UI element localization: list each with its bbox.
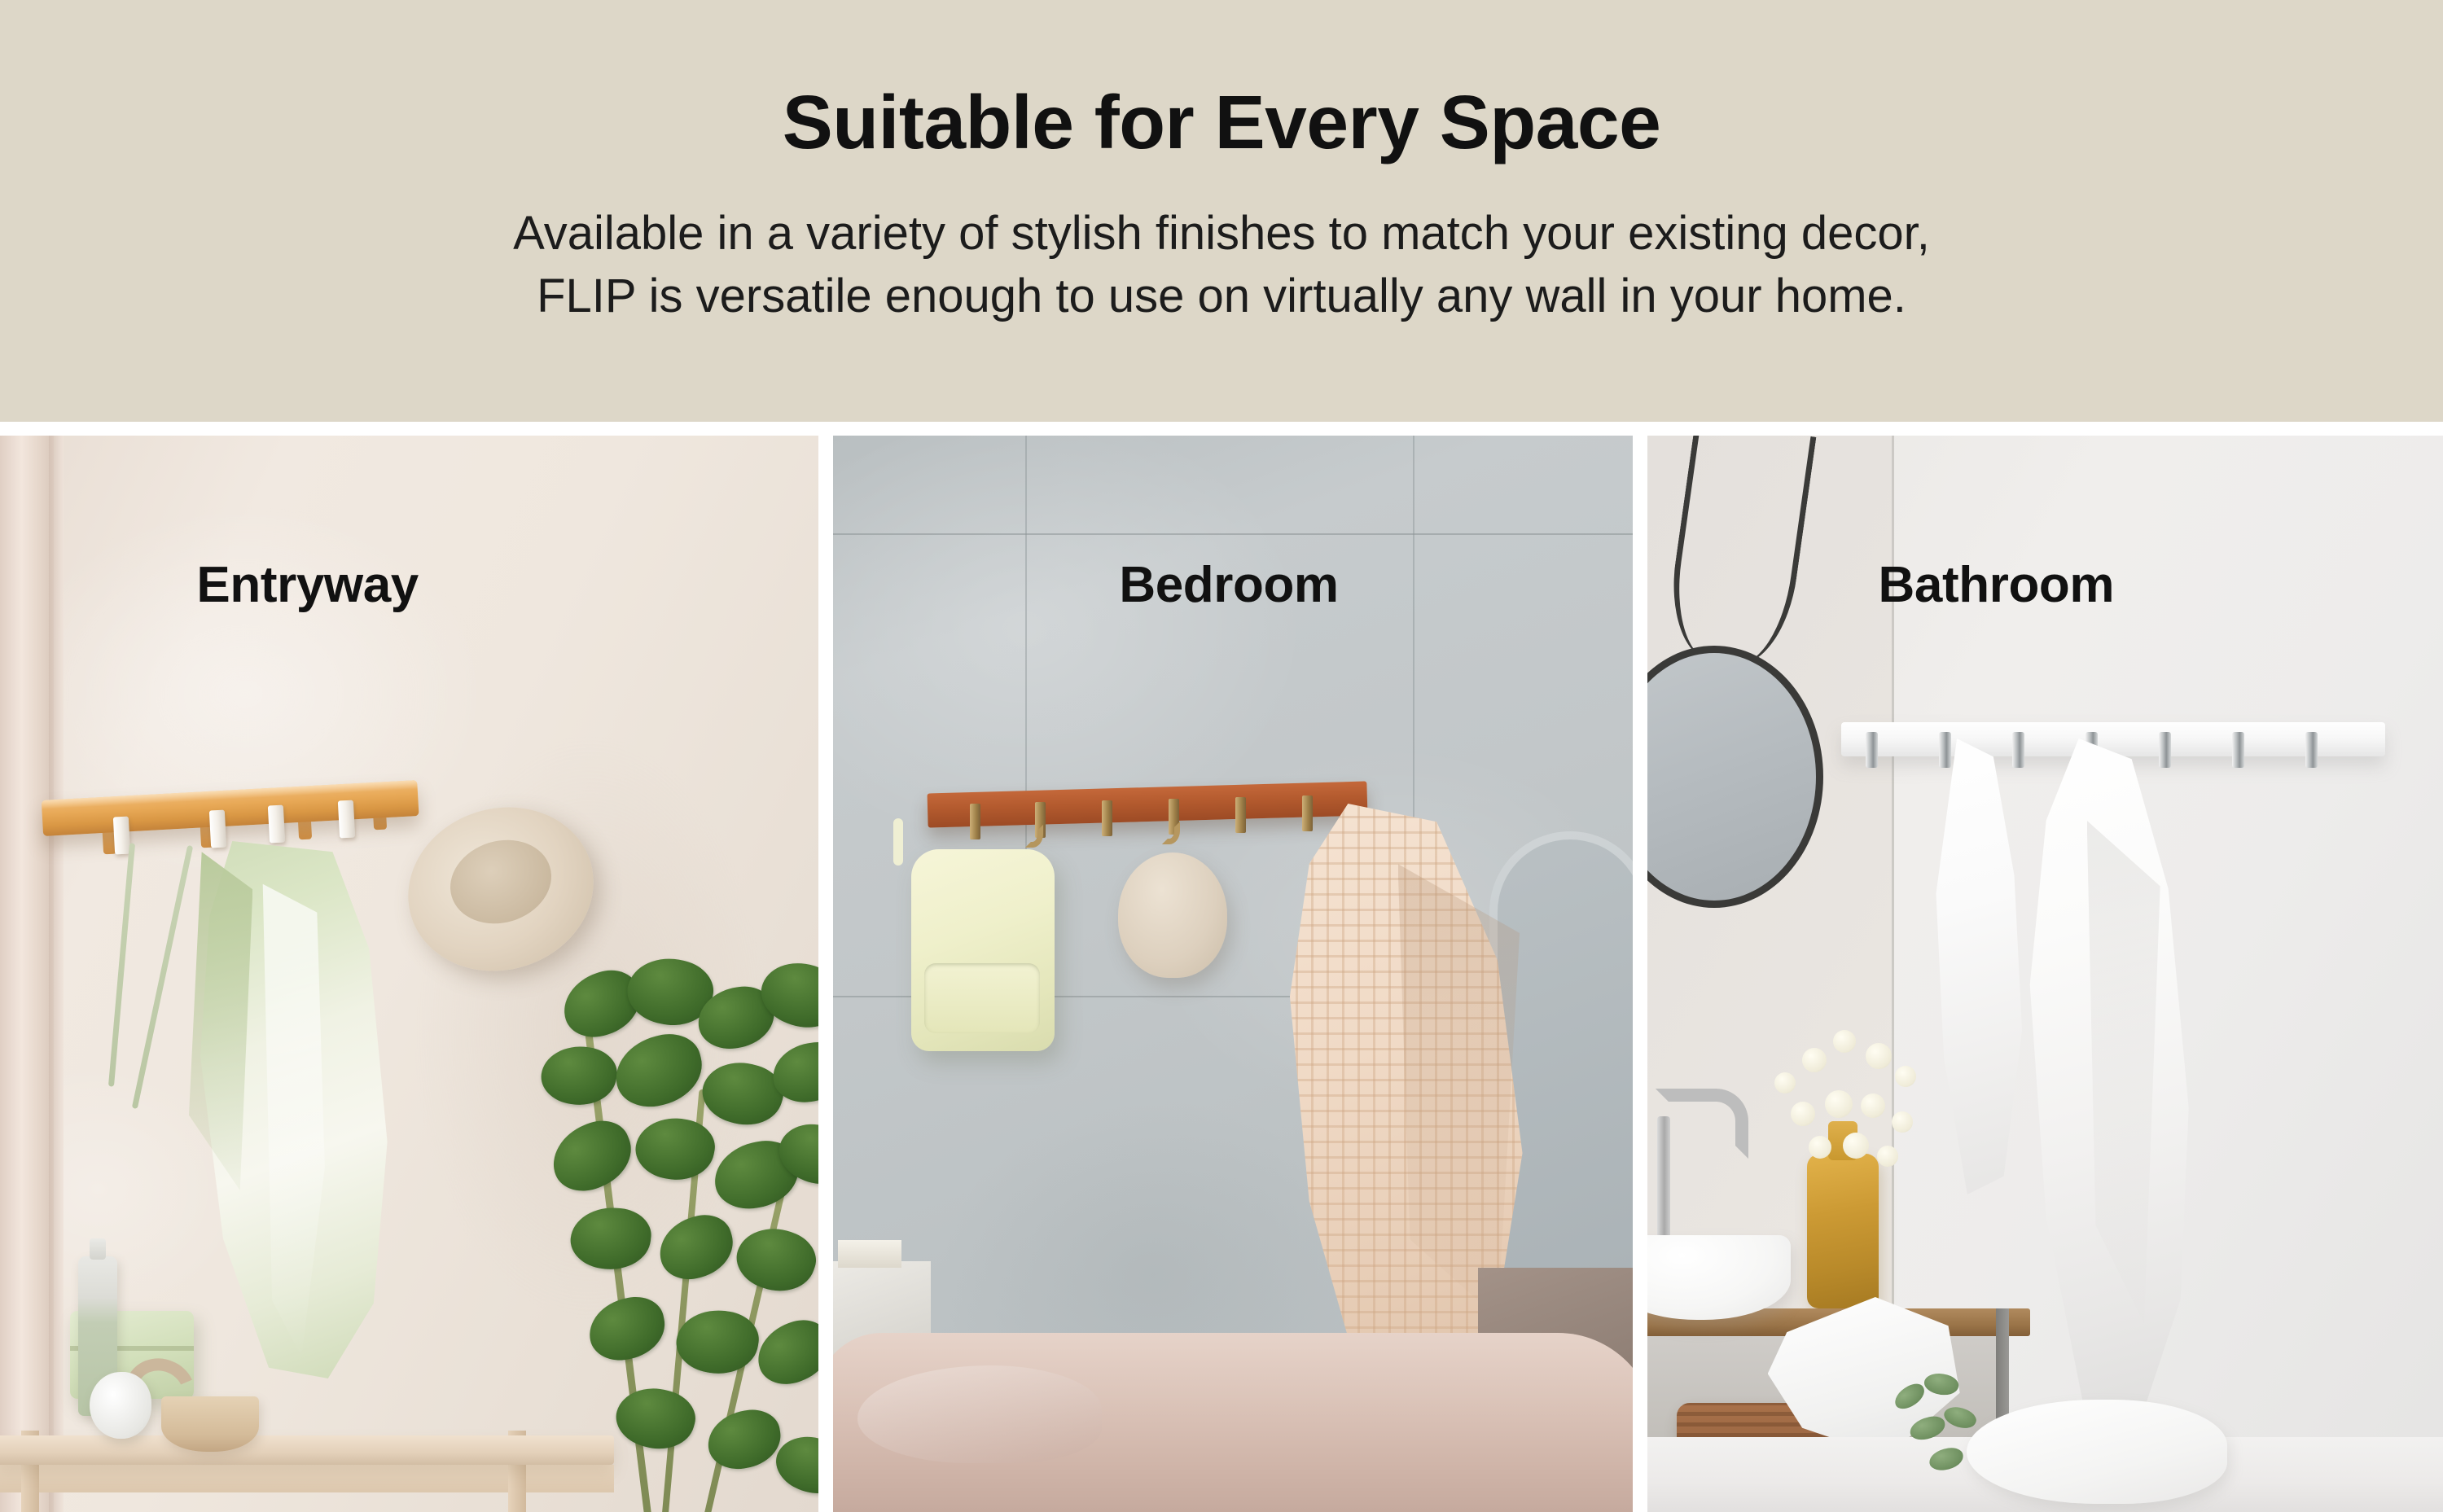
hook-icon <box>970 804 980 839</box>
subtitle-line-2: FLIP is versatile enough to use on virtu… <box>513 265 1930 328</box>
page-root: Suitable for Every Space Available in a … <box>0 0 2443 1512</box>
backpack <box>911 849 1055 1051</box>
plant-leaf <box>584 1291 671 1366</box>
floret <box>1866 1043 1892 1069</box>
floret <box>1825 1090 1853 1118</box>
eucalyptus-sprig <box>1885 1370 1999 1492</box>
wall-seam <box>833 533 1632 535</box>
panel-label-bathroom: Bathroom <box>1647 556 2443 614</box>
header-band: Suitable for Every Space Available in a … <box>0 0 2443 422</box>
floret <box>1892 1111 1913 1133</box>
subtitle-line-1: Available in a variety of stylish finish… <box>513 203 1930 265</box>
felt-hat <box>407 794 594 968</box>
panel-label-entryway: Entryway <box>0 556 818 614</box>
hanging-robe <box>2006 738 2209 1422</box>
faucet <box>1657 1116 1670 1245</box>
leaf <box>1890 1380 1928 1413</box>
leaf <box>1907 1414 1946 1443</box>
leaf <box>1922 1370 1961 1400</box>
plant-leaf <box>652 1208 741 1286</box>
panel-entryway[interactable]: Entryway <box>0 436 818 1512</box>
hook-icon <box>2305 732 2318 768</box>
panel-strip: Entryway <box>0 422 2443 1512</box>
plant-leaf <box>538 1041 621 1110</box>
dried-flowers <box>1758 1015 1937 1178</box>
backpack-strap <box>893 818 903 866</box>
cap <box>1118 852 1227 978</box>
plant-leaf <box>542 1111 642 1201</box>
hook-icon <box>1235 797 1246 833</box>
floret <box>1802 1048 1827 1072</box>
plant-leaf <box>730 1217 819 1301</box>
plant-leaf <box>610 1378 702 1458</box>
floret <box>1861 1093 1885 1118</box>
panel-bedroom[interactable]: Bedroom <box>833 436 1632 1512</box>
leaf <box>1928 1446 1964 1472</box>
plant-leaf <box>568 1203 654 1273</box>
hook-icon <box>1939 732 1951 768</box>
floret <box>1833 1030 1856 1053</box>
floret <box>1791 1102 1815 1126</box>
green-coat <box>178 841 406 1378</box>
floret <box>1895 1066 1916 1087</box>
potted-plant <box>493 958 818 1512</box>
panel-label-bedroom: Bedroom <box>833 556 1632 614</box>
bath-mat <box>1967 1400 2227 1504</box>
hook-icon <box>2232 732 2244 768</box>
hook-icon <box>338 800 355 839</box>
page-title: Suitable for Every Space <box>783 85 1661 160</box>
plant-leaf <box>608 1027 710 1115</box>
leaf <box>1941 1402 1979 1433</box>
floret <box>1843 1133 1869 1159</box>
plant-leaf <box>749 1312 819 1392</box>
headphone-cup <box>90 1372 151 1439</box>
hook-icon <box>113 817 130 855</box>
hook-icon <box>1866 732 1878 768</box>
panel-bathroom[interactable]: Bathroom <box>1647 436 2443 1512</box>
floret <box>1809 1136 1831 1159</box>
hook-icon <box>268 805 285 844</box>
plant-leaf <box>631 1111 720 1187</box>
page-subtitle: Available in a variety of stylish finish… <box>513 203 1930 327</box>
floret <box>1877 1146 1898 1167</box>
floret <box>1774 1072 1796 1093</box>
hook-icon <box>1102 800 1112 836</box>
headphones <box>90 1357 195 1453</box>
book-stack <box>838 1240 901 1268</box>
